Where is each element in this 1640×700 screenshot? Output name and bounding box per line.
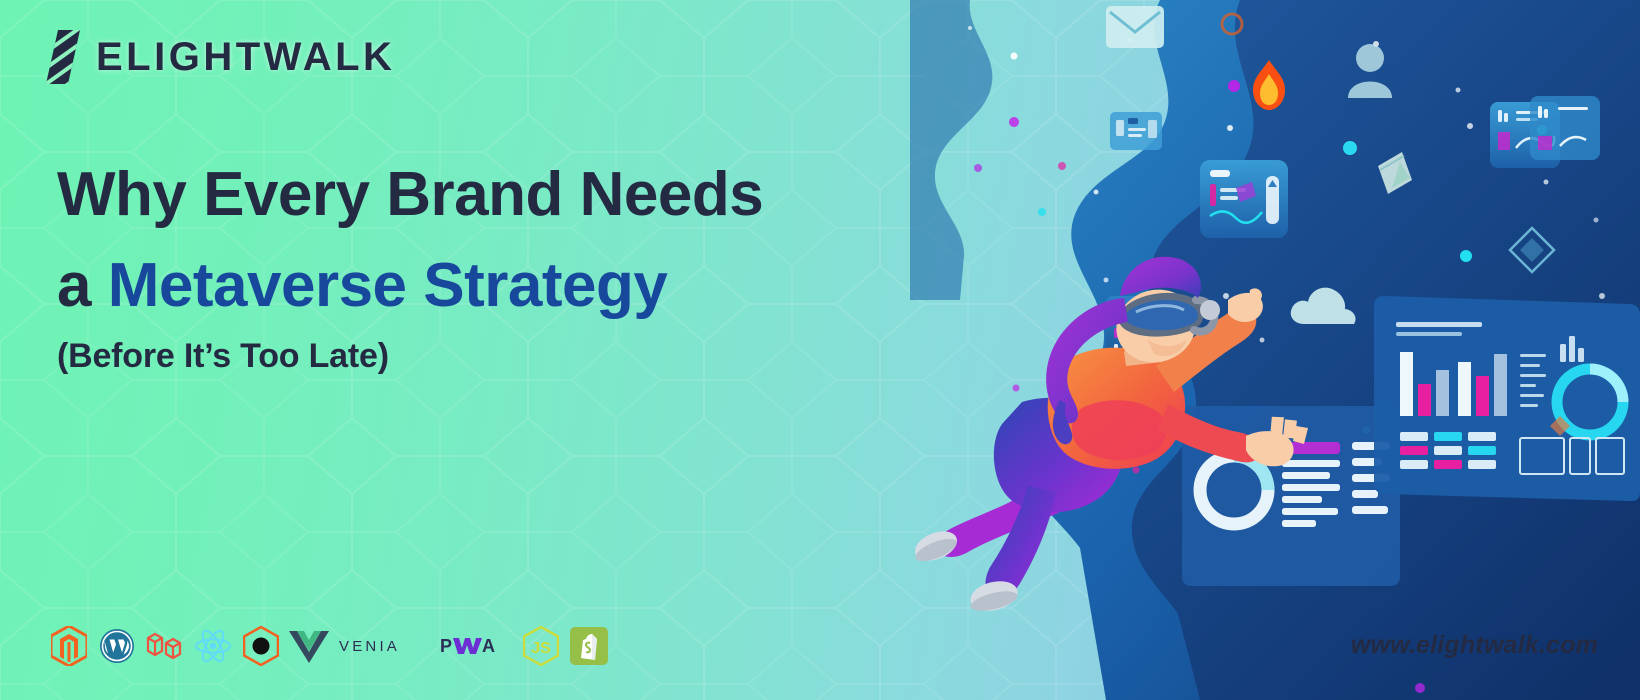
analytics-panel — [1106, 296, 1188, 368]
headline-line-2-prefix: a — [57, 251, 108, 320]
user-avatar-icon — [1348, 44, 1392, 98]
headline-block: Why Every Brand Needs a Metaverse Strate… — [57, 150, 763, 376]
mini-report-panel — [1530, 96, 1600, 160]
vue-logo-icon — [288, 626, 330, 666]
hyva-logo-icon — [240, 626, 282, 666]
headline-line-2: a Metaverse Strategy — [57, 241, 763, 332]
pwa-logo-icon: P A — [428, 626, 514, 666]
brand-logo[interactable]: ELIGHTWALK — [46, 30, 395, 84]
svg-text:VENIA: VENIA — [339, 638, 400, 655]
mini-dashboard-panel — [1110, 112, 1162, 150]
dashboard-panel — [1374, 296, 1640, 501]
envelope-icon — [1106, 6, 1164, 48]
headline-subtitle: (Before It’s Too Late) — [57, 337, 763, 376]
svg-text:P: P — [440, 636, 452, 656]
accent-particles — [974, 80, 1472, 693]
bar-chart-panel — [1200, 160, 1288, 238]
mini-bar-icon — [1560, 336, 1584, 362]
headline-line-1: Why Every Brand Needs — [57, 150, 763, 241]
venia-logo-icon: VENIA — [336, 626, 422, 666]
blue-blob-shape — [910, 0, 1640, 700]
floating-particles — [968, 26, 1605, 343]
diamond-icon — [1510, 228, 1554, 272]
react-logo-icon — [192, 626, 234, 666]
marketing-banner: ELIGHTWALK Why Every Brand Needs a Metav… — [0, 0, 1640, 700]
website-url[interactable]: www.elightwalk.com — [1351, 631, 1598, 660]
headline-accent-text: Metaverse Strategy — [108, 251, 668, 320]
woman-in-vr-headset-figure — [911, 257, 1308, 616]
tech-stack-strip: VENIA P A JS — [48, 626, 610, 666]
brand-name: ELIGHTWALK — [96, 37, 395, 77]
shopify-logo-icon — [568, 626, 610, 666]
nodejs-logo-icon: JS — [520, 626, 562, 666]
flame-icon — [1253, 60, 1285, 110]
ring-icon — [1222, 14, 1242, 34]
svg-text:A: A — [482, 636, 495, 656]
document-icon — [1378, 152, 1412, 194]
vr-woman-metaverse-illustration — [910, 0, 1640, 700]
cloud-icon — [1291, 288, 1356, 324]
small-diamond-icon — [1550, 416, 1570, 436]
svg-text:JS: JS — [531, 640, 551, 657]
donut-chart-panel — [1182, 406, 1400, 586]
magento-logo-icon — [48, 626, 90, 666]
wordpress-logo-icon — [96, 626, 138, 666]
laravel-logo-icon — [144, 626, 186, 666]
elightwalk-slash-mark-icon — [46, 30, 80, 84]
stat-panel — [1490, 102, 1560, 168]
